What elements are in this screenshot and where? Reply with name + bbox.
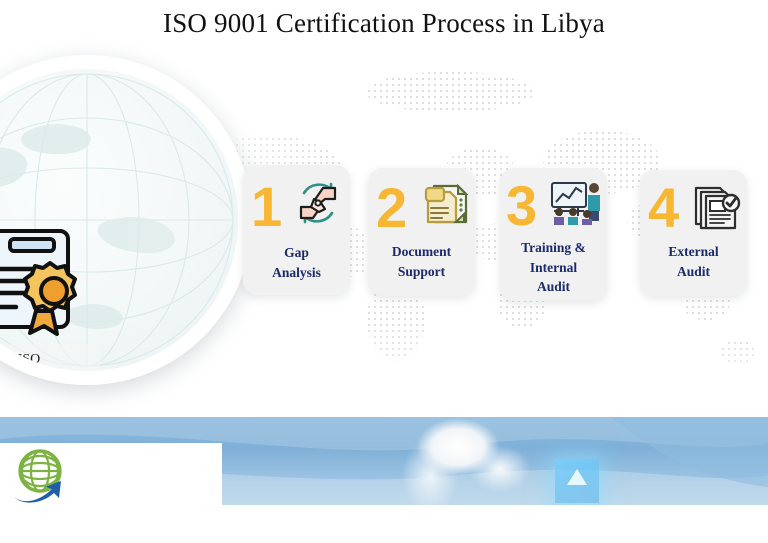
step-label-1-line2: Analysis	[243, 263, 350, 283]
badge-label-line2: Certification	[0, 368, 64, 371]
step-number-4: 4	[648, 180, 679, 236]
brand-logo-panel[interactable]: Vertex Certifiers Achieve your certifica…	[0, 443, 222, 505]
step-label-2: Document Support	[368, 242, 475, 281]
step-label-3-line3: Audit	[500, 277, 607, 297]
gloved-hand-image	[380, 417, 580, 505]
step-label-3-line1: Training &	[500, 238, 607, 258]
page-title: ISO 9001 Certification Process in Libya	[0, 8, 768, 39]
step-label-4: External Audit	[640, 242, 747, 281]
step-label-2-line1: Document	[368, 242, 475, 262]
step-number-3: 3	[506, 178, 537, 234]
step-card-2[interactable]: 2 Document Support	[368, 168, 475, 296]
step-card-3[interactable]: 3 Training & Internal Audit	[500, 168, 607, 301]
step-label-3-line2: Internal	[500, 258, 607, 278]
training-presentation-icon	[548, 178, 604, 230]
step-number-1: 1	[251, 179, 282, 235]
step-label-3: Training & Internal Audit	[500, 238, 607, 297]
step-label-1-line1: Gap	[243, 243, 350, 263]
touch-interface-glow-icon	[555, 459, 599, 503]
badge-label: ISO Certification	[0, 344, 100, 371]
step-label-1: Gap Analysis	[243, 243, 350, 282]
step-card-4[interactable]: 4 External Audit	[640, 170, 747, 296]
step-label-2-line2: Support	[368, 262, 475, 282]
document-check-icon	[690, 182, 742, 234]
step-card-1[interactable]: 1 Gap Analysis	[243, 165, 350, 295]
iso-certification-badge: ISO Certification	[0, 69, 238, 371]
document-clipboard-icon	[420, 178, 470, 230]
handshake-icon	[292, 177, 344, 229]
step-number-2: 2	[376, 180, 407, 236]
step-label-4-line2: Audit	[640, 262, 747, 282]
certificate-award-icon	[0, 219, 98, 339]
step-label-4-line1: External	[640, 242, 747, 262]
globe-arrow-logo-icon	[12, 447, 74, 503]
badge-label-line1: ISO	[18, 351, 41, 369]
infographic-canvas: ISO 9001 Certification Process in Libya	[0, 0, 768, 543]
